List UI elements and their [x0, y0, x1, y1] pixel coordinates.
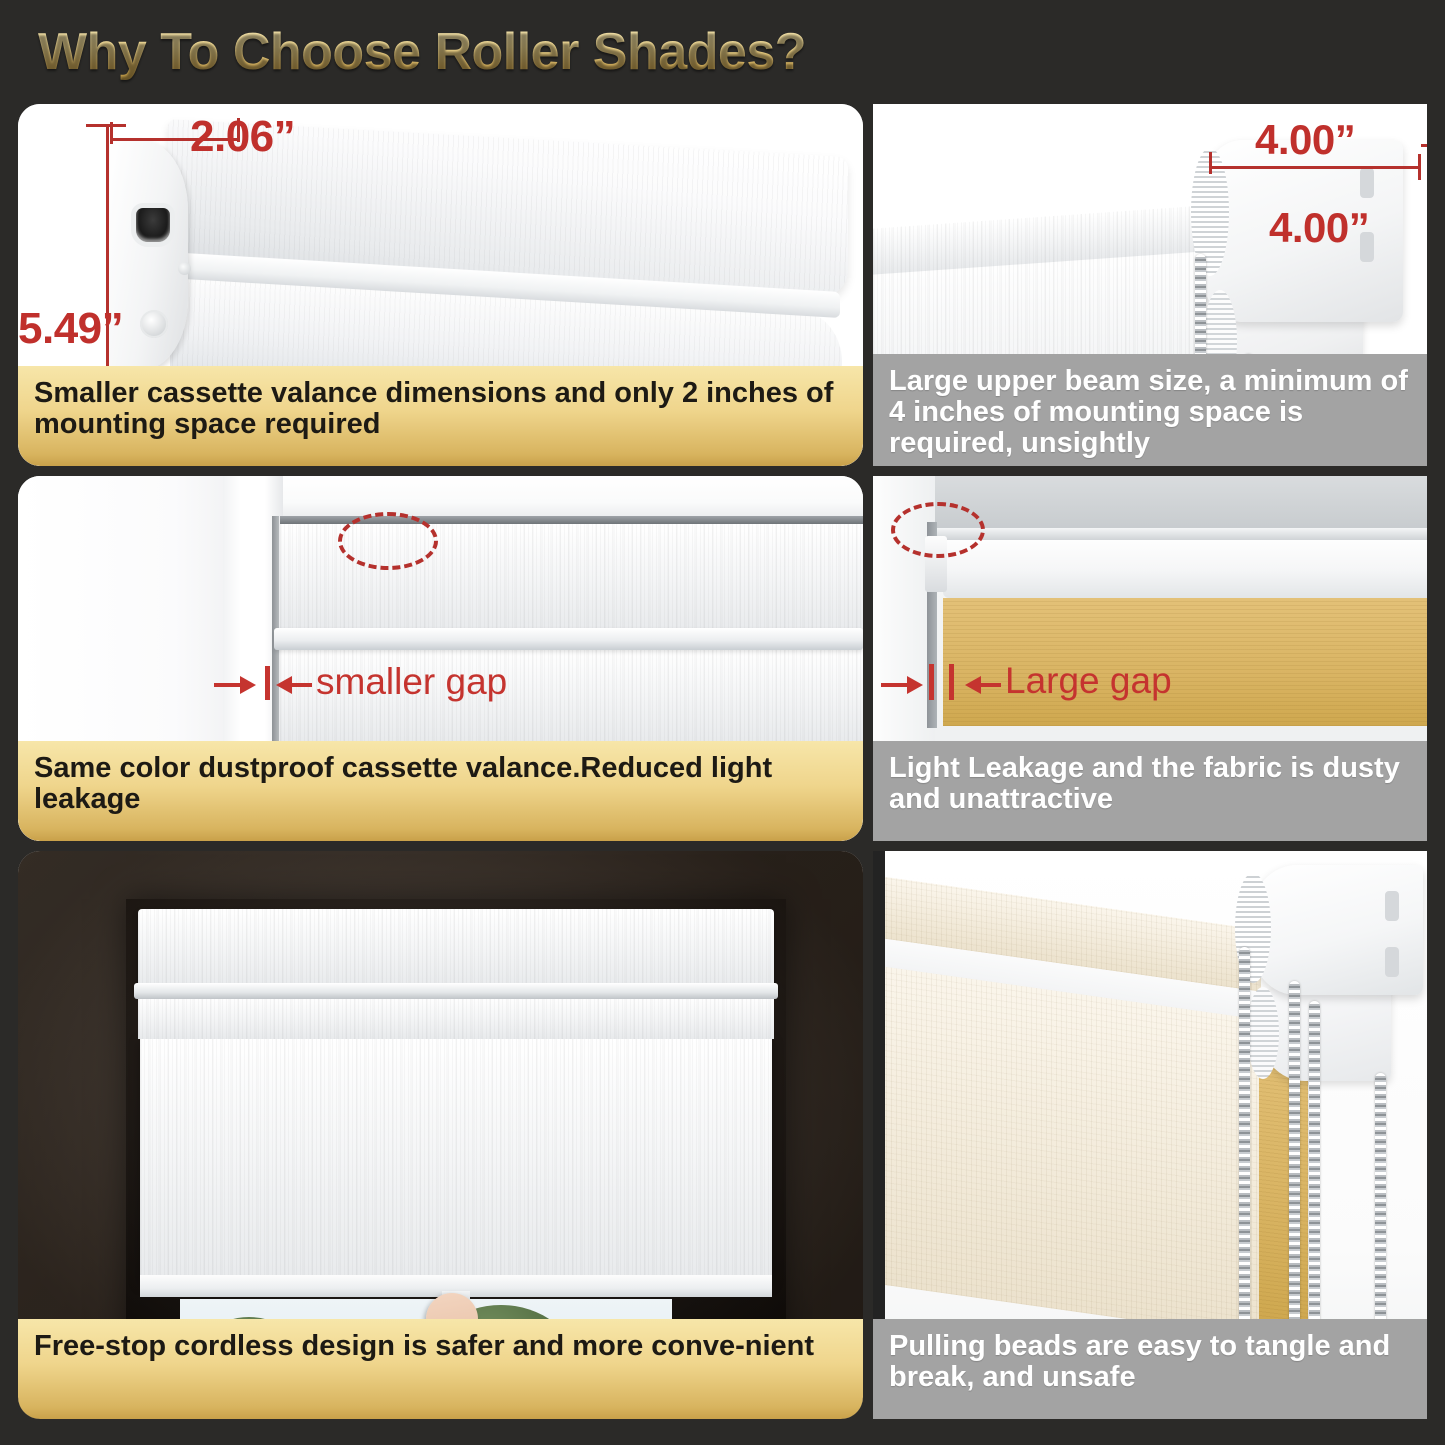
- caption-light-leakage: Light Leakage and the fabric is dusty an…: [873, 741, 1427, 841]
- valance-upper-face: [138, 909, 774, 987]
- highlight-ellipse-icon: [891, 502, 985, 558]
- bracket-slot: [136, 208, 170, 242]
- beam-width-tick-right: [1418, 154, 1421, 180]
- caption-pulling-beads: Pulling beads are easy to tangle and bre…: [873, 1319, 1427, 1419]
- gap-arrow-right-icon: [240, 676, 256, 694]
- caption-cassette-valance: Smaller cassette valance dimensions and …: [18, 366, 863, 466]
- roller-shade-fabric: [140, 1037, 772, 1281]
- roller-coil-lower: [1247, 987, 1279, 1079]
- height-dimension-label: 5.49”: [18, 304, 123, 354]
- page-title: Why To Choose Roller Shades?: [38, 22, 806, 82]
- bead-chain-2[interactable]: [1289, 981, 1300, 1347]
- panel-light-leakage: Large gap Light Leakage and the fabric i…: [873, 476, 1427, 841]
- smaller-gap-label: smaller gap: [316, 661, 507, 703]
- gap-bar-marker: [929, 664, 934, 700]
- gap-arrow-stem-right: [979, 683, 1001, 687]
- valance-bottom-rail: [274, 628, 863, 650]
- bead-chain-3[interactable]: [1309, 1001, 1320, 1347]
- beam-top-edge: [935, 528, 1427, 540]
- gap-bar-marker: [265, 666, 270, 700]
- bracket-notch-upper: [1360, 168, 1374, 198]
- bracket-screw-upper: [178, 262, 191, 275]
- bracket-notch-upper: [1385, 891, 1399, 921]
- gap-bar-marker-2: [949, 664, 954, 700]
- panel-large-upper-beam: 4.00” 4.00” Large upper beam size, a min…: [873, 104, 1427, 466]
- bead-chain-4[interactable]: [1375, 1073, 1386, 1347]
- caption-large-upper-beam: Large upper beam size, a minimum of 4 in…: [873, 354, 1427, 466]
- panel-free-stop-cordless: Free-stop cordless design is safer and m…: [18, 851, 863, 1419]
- bead-chain-1[interactable]: [1239, 947, 1250, 1347]
- beam-width-line: [1209, 166, 1421, 169]
- gap-arrow-stem-left: [881, 683, 909, 687]
- height-tick-top: [86, 124, 126, 127]
- large-gap-label: Large gap: [1005, 660, 1172, 702]
- comparison-grid: 2.06” 5.49” Smaller cassette valance dim…: [0, 104, 1445, 1419]
- width-dimension-label: 2.06”: [190, 112, 295, 162]
- caption-free-stop-cordless: Free-stop cordless design is safer and m…: [18, 1319, 863, 1419]
- beam-width-label: 4.00”: [1255, 116, 1355, 164]
- panel-pulling-beads: Pulling beads are easy to tangle and bre…: [873, 851, 1427, 1419]
- bracket-notch-lower: [1385, 947, 1399, 977]
- infographic-page: Why To Choose Roller Shades? 2.06”: [0, 0, 1445, 1445]
- gap-arrow-stem-left: [214, 683, 242, 687]
- gap-arrow-stem-right: [290, 683, 312, 687]
- beam-width-tick-left: [1209, 152, 1212, 174]
- beige-shade-fabric: [881, 954, 1259, 1337]
- exposed-beam: [943, 536, 1427, 598]
- window-frame-top: [223, 476, 863, 520]
- beam-height-label: 4.00”: [1269, 204, 1369, 252]
- beam-height-tick-top: [1421, 144, 1427, 147]
- valance-rail: [134, 983, 778, 999]
- valance-lower-face: [138, 997, 774, 1039]
- ceiling-shadow: [935, 476, 1427, 534]
- header: Why To Choose Roller Shades?: [0, 0, 1445, 104]
- bracket-screw-lower: [140, 310, 168, 338]
- panel-dustproof-valance: smaller gap Same color dustproof cassett…: [18, 476, 863, 841]
- highlight-ellipse-icon: [338, 512, 438, 570]
- panel-cassette-valance: 2.06” 5.49” Smaller cassette valance dim…: [18, 104, 863, 466]
- gap-arrow-right-icon: [907, 676, 923, 694]
- caption-dustproof-valance: Same color dustproof cassette valance.Re…: [18, 741, 863, 841]
